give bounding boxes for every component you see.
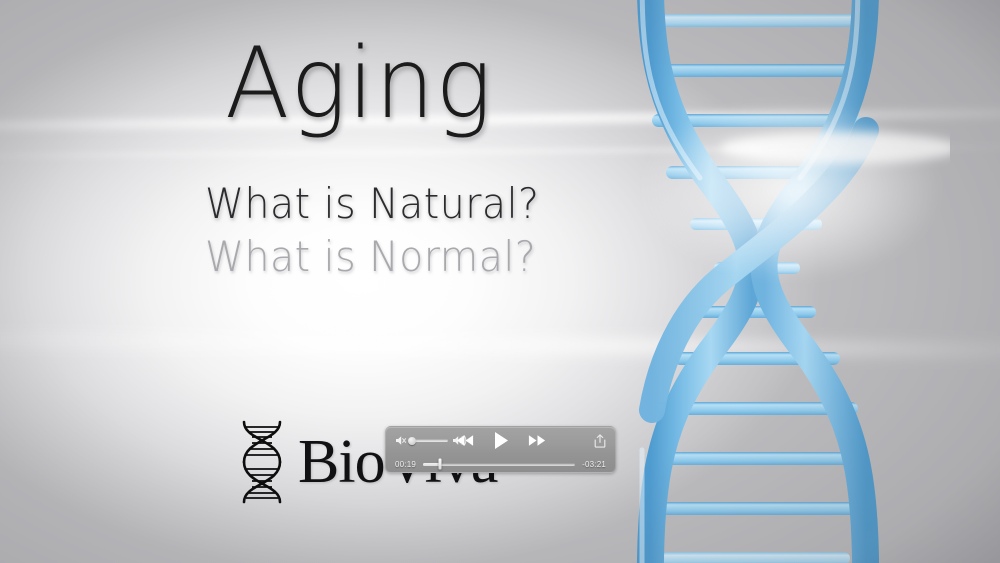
vignette-overlay bbox=[0, 0, 1000, 563]
player-scrubber-row: 00:19 -03:21 bbox=[386, 454, 615, 473]
dna-lens-flare bbox=[720, 132, 950, 164]
dna-strand-front-cross bbox=[652, 130, 866, 410]
scrubber-knob[interactable] bbox=[438, 459, 441, 470]
volume-slider[interactable] bbox=[412, 439, 448, 442]
light-streak bbox=[0, 108, 1000, 132]
dna-strand-right bbox=[764, 0, 866, 563]
scrubber-track[interactable] bbox=[423, 463, 575, 466]
page-title: Aging bbox=[225, 35, 493, 133]
elapsed-time: 00:19 bbox=[395, 460, 416, 469]
share-button[interactable] bbox=[594, 427, 606, 454]
light-streak bbox=[0, 332, 1000, 359]
dna-rungs bbox=[646, 14, 866, 563]
scrubber-progress bbox=[423, 463, 440, 466]
play-icon[interactable] bbox=[492, 431, 509, 450]
light-streak bbox=[0, 144, 1000, 159]
volume-mute-icon[interactable] bbox=[395, 435, 408, 446]
player-transport-row bbox=[386, 427, 615, 454]
video-player-controls[interactable]: 00:19 -03:21 bbox=[385, 426, 616, 473]
dna-strand-left bbox=[650, 0, 752, 563]
subtitle-natural: What is Natural? bbox=[205, 183, 539, 225]
transport-buttons bbox=[455, 427, 546, 454]
fast-forward-icon[interactable] bbox=[527, 434, 546, 447]
share-export-icon[interactable] bbox=[594, 434, 606, 448]
video-frame: Aging What is Natural? What is Normal? bbox=[0, 0, 1000, 563]
remaining-time: -03:21 bbox=[582, 460, 606, 469]
dna-bloom-highlight bbox=[640, 100, 940, 280]
rewind-icon[interactable] bbox=[455, 434, 474, 447]
dna-helix-illustration bbox=[590, 0, 950, 563]
subtitle-normal: What is Normal? bbox=[205, 236, 536, 278]
dna-highlights bbox=[642, 0, 858, 563]
dna-helix-icon bbox=[236, 418, 288, 506]
volume-slider-knob[interactable] bbox=[408, 437, 416, 445]
